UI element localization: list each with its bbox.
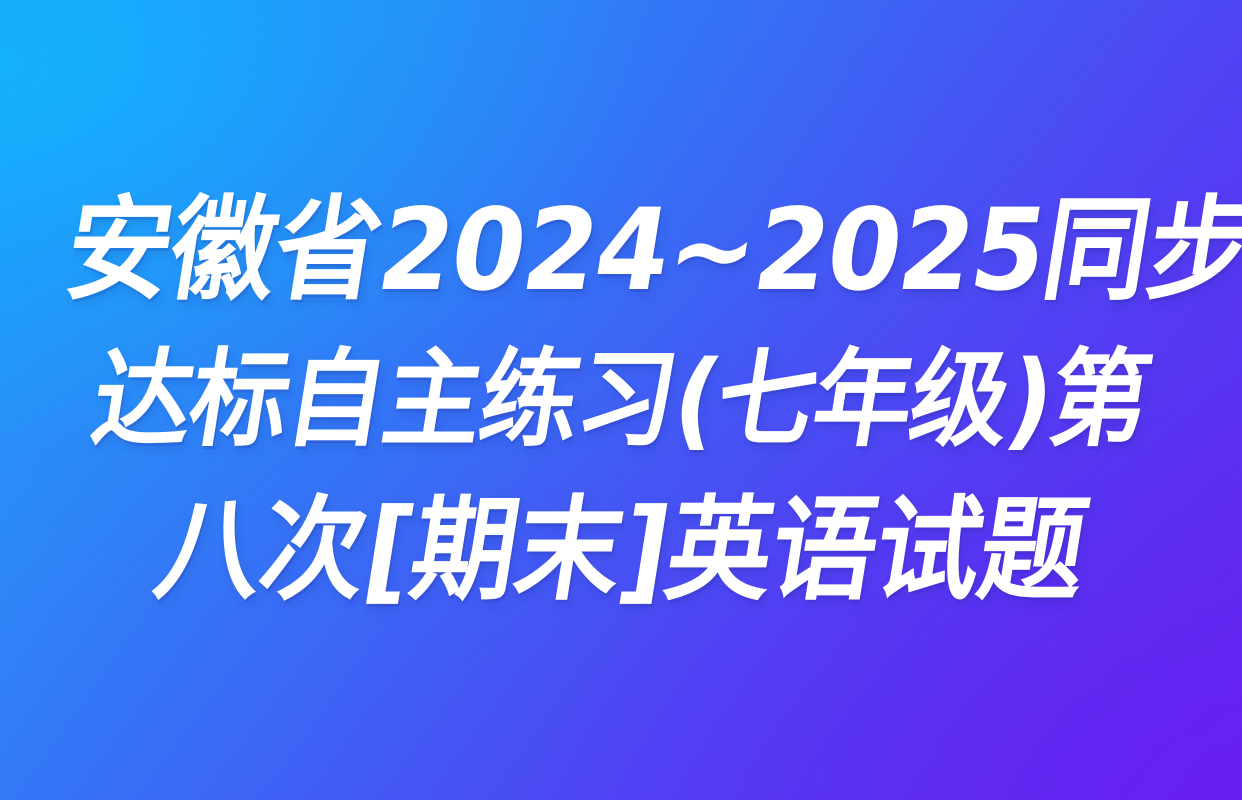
page-title-line-3: 八次[期末]英语试题 (56, 475, 1186, 625)
title-card-poster: 安徽省2024~2025同步 达标自主练习(七年级)第 八次[期末]英语试题 (0, 0, 1242, 800)
page-title: 安徽省2024~2025同步 达标自主练习(七年级)第 八次[期末]英语试题 (0, 0, 1242, 800)
page-title-line-1: 安徽省2024~2025同步 (56, 175, 1186, 325)
page-title-line-2: 达标自主练习(七年级)第 (56, 325, 1186, 475)
